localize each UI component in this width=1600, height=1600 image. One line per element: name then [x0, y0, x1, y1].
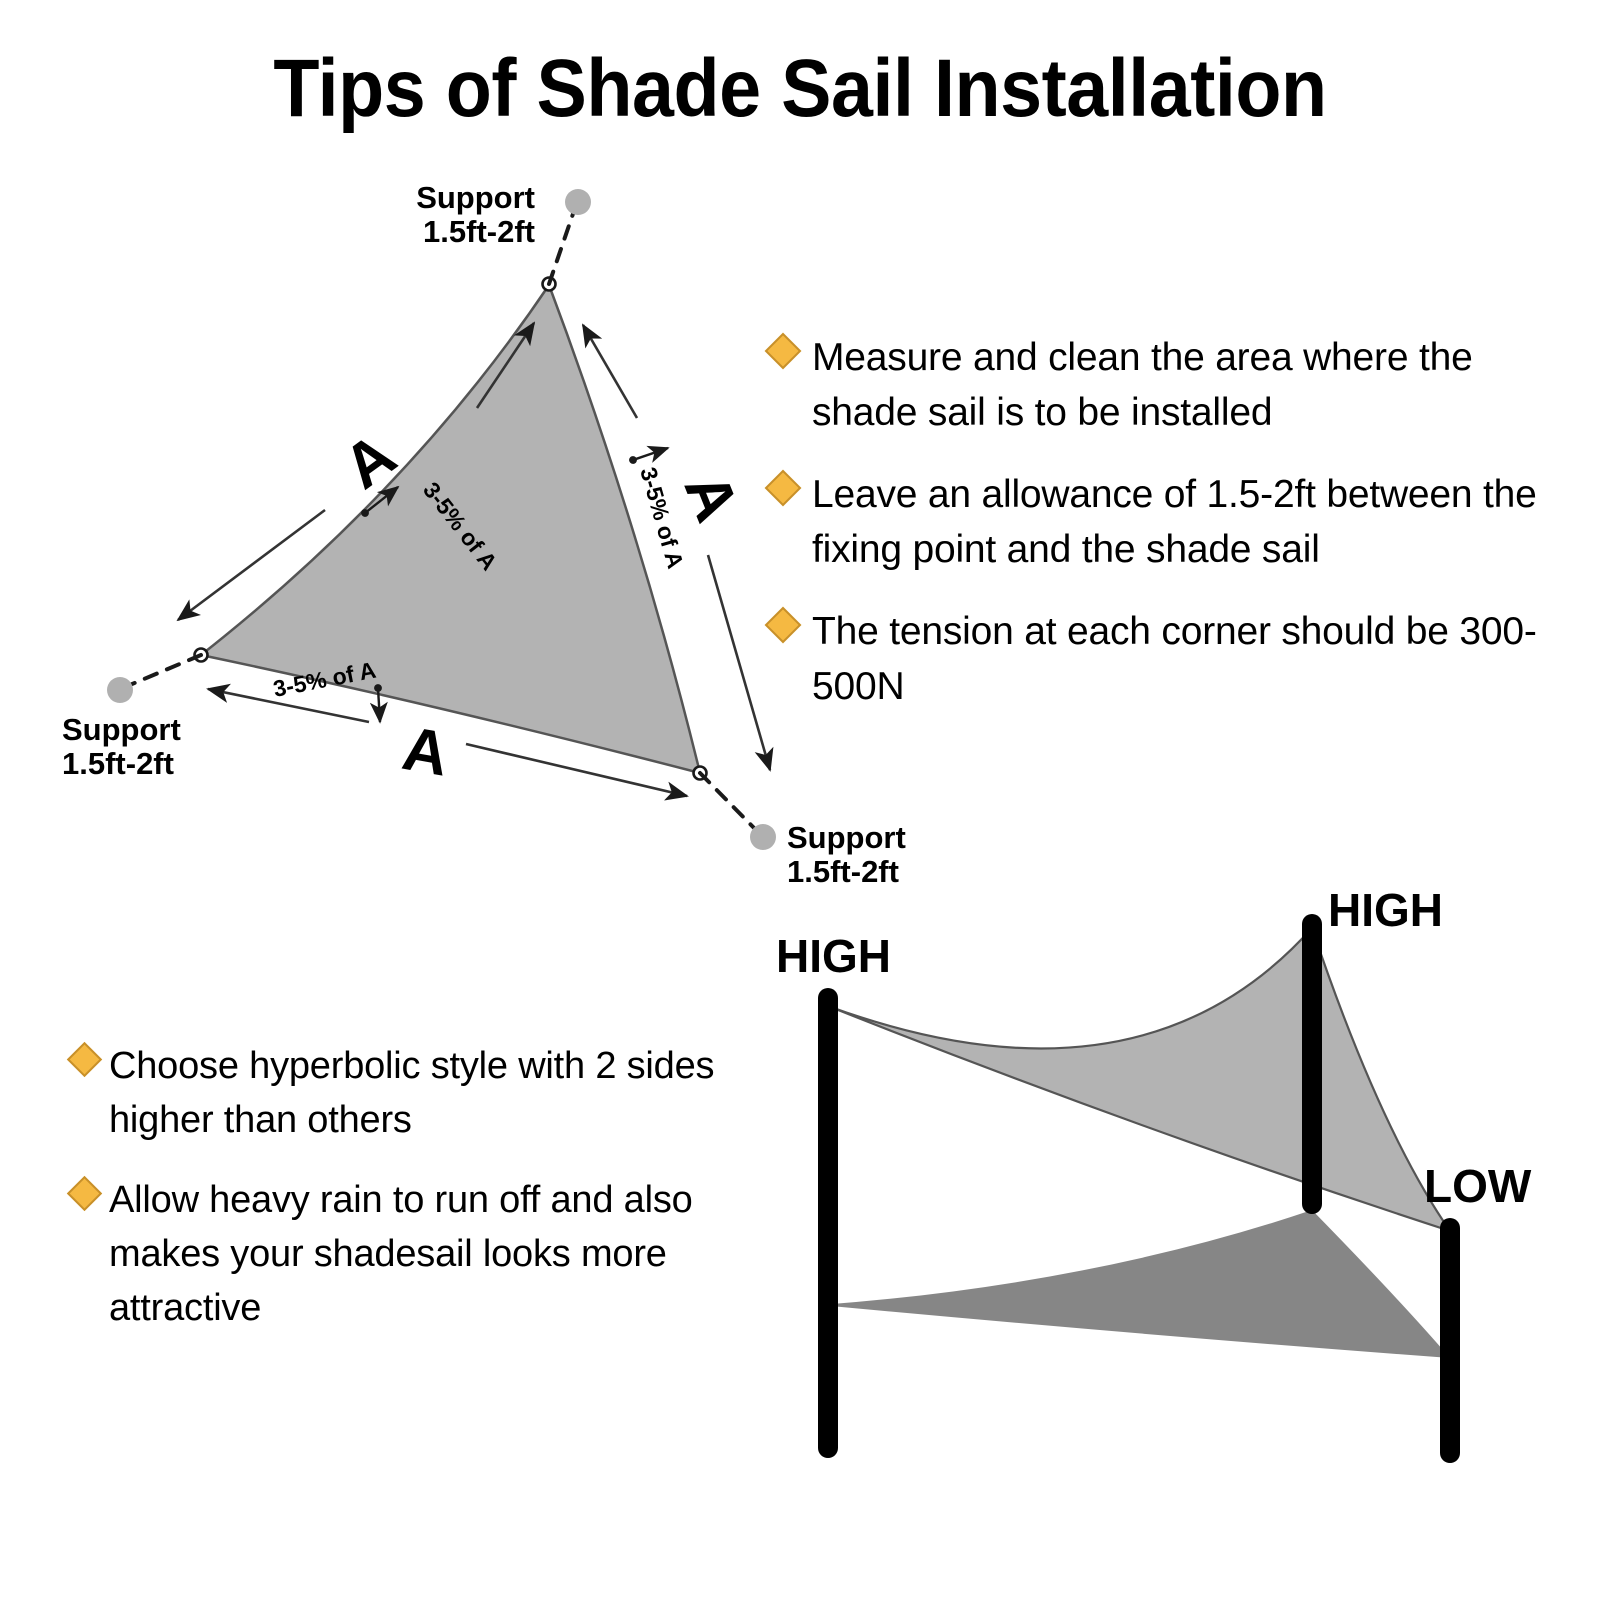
tip-text-rain-runoff: Allow heavy rain to run off and also mak…	[109, 1174, 792, 1336]
support-label-left-line1: Support	[62, 712, 181, 747]
tip-item-tension: The tension at each corner should be 300…	[770, 604, 1570, 715]
sail-ground-shadow	[820, 1210, 1450, 1358]
post-label-right: LOW	[1424, 1160, 1532, 1212]
tip-item-allowance: Leave an allowance of 1.5-2ft between th…	[770, 467, 1570, 578]
hyperbolic-sail-shape	[828, 928, 1450, 1231]
support-label-br-line1: Support	[787, 820, 906, 855]
tip-text-hyperbolic-style: Choose hyperbolic style with 2 sides hig…	[109, 1040, 792, 1148]
diamond-bullet-icon	[765, 606, 802, 643]
support-label-bottom-right: Support 1.5ft-2ft	[787, 820, 906, 889]
diamond-bullet-icon	[765, 333, 802, 370]
tips-list-right: Measure and clean the area where the sha…	[770, 330, 1570, 740]
support-dot-top	[565, 189, 591, 215]
tip-item-hyperbolic-style: Choose hyperbolic style with 2 sides hig…	[72, 1040, 792, 1148]
dimension-letter-right-side: A	[671, 464, 752, 531]
tether-line-bottom-right	[700, 773, 758, 832]
support-dot-bottom-right	[750, 824, 776, 850]
support-label-left: Support 1.5ft-2ft	[62, 712, 181, 781]
support-label-top-line2: 1.5ft-2ft	[423, 214, 535, 249]
support-dot-left	[107, 677, 133, 703]
diamond-bullet-icon	[67, 1176, 102, 1211]
tip-text-allowance: Leave an allowance of 1.5-2ft between th…	[812, 467, 1570, 578]
page-title: Tips of Shade Sail Installation	[64, 46, 1536, 132]
dimension-letter-bottom-side: A	[398, 714, 454, 790]
curve-depth-indicator-right	[633, 448, 668, 460]
support-label-top-line1: Support	[416, 180, 535, 215]
tether-line-left	[125, 655, 201, 687]
post-right	[1440, 1218, 1460, 1463]
diamond-bullet-icon	[765, 469, 802, 506]
post-left	[818, 988, 838, 1458]
curve-depth-label-right: 3-5% of A	[635, 464, 689, 571]
support-label-top: Support 1.5ft-2ft	[416, 180, 535, 249]
tip-text-tension: The tension at each corner should be 300…	[812, 604, 1570, 715]
tether-line-top	[549, 208, 575, 284]
diamond-bullet-icon	[67, 1042, 102, 1077]
tip-text-measure-clean: Measure and clean the area where the sha…	[812, 330, 1570, 441]
post-label-left: HIGH	[776, 930, 891, 982]
tip-item-measure-clean: Measure and clean the area where the sha…	[770, 330, 1570, 441]
tip-item-rain-runoff: Allow heavy rain to run off and also mak…	[72, 1174, 792, 1336]
support-label-left-line2: 1.5ft-2ft	[62, 746, 174, 781]
hyperbolic-shade-sail-diagram: HIGH HIGH LOW	[760, 880, 1580, 1580]
tips-list-left: Choose hyperbolic style with 2 sides hig…	[72, 1040, 792, 1362]
post-label-middle: HIGH	[1328, 884, 1443, 936]
post-middle	[1302, 914, 1322, 1214]
